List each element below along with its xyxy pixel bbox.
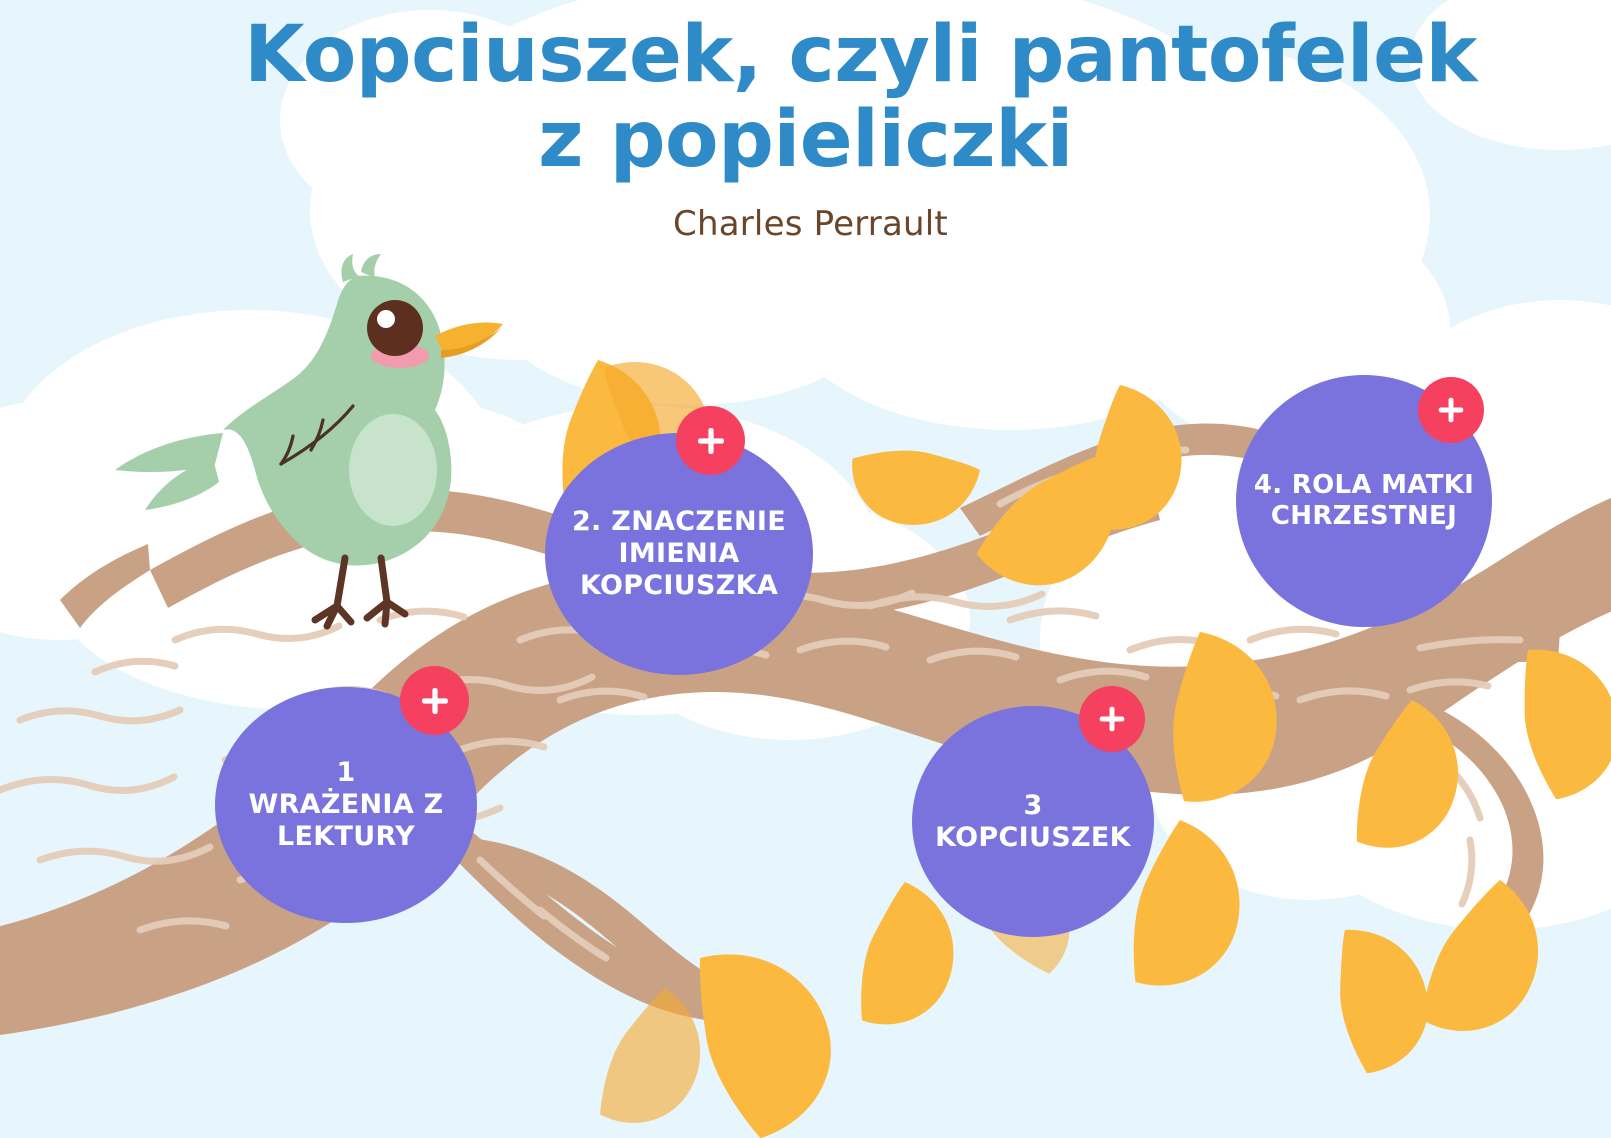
topic-bubble-4-label: 4. ROLA MATKI CHRZESTNEJ [1244,470,1484,531]
topic-bubble-2-label: 2. ZNACZENIE IMIENIA KOPCIUSZKA [562,506,796,602]
plus-icon [1434,393,1468,427]
plus-icon [1095,702,1129,736]
expand-topic-3-button[interactable] [1079,686,1145,752]
topic-bubble-1-label: 1 WRAŻENIA Z LEKTURY [238,757,453,853]
topic-bubble-3-label: 3 KOPCIUSZEK [925,790,1141,854]
presentation-slide: Kopciuszek, czyli pantofelek z popielicz… [0,0,1611,1138]
expand-topic-4-button[interactable] [1418,377,1484,443]
plus-icon [417,683,453,719]
expand-topic-2-button[interactable] [676,406,745,475]
plus-icon [693,423,729,459]
expand-topic-1-button[interactable] [400,666,469,735]
topic-bubble-2[interactable]: 2. ZNACZENIE IMIENIA KOPCIUSZKA [545,433,813,675]
